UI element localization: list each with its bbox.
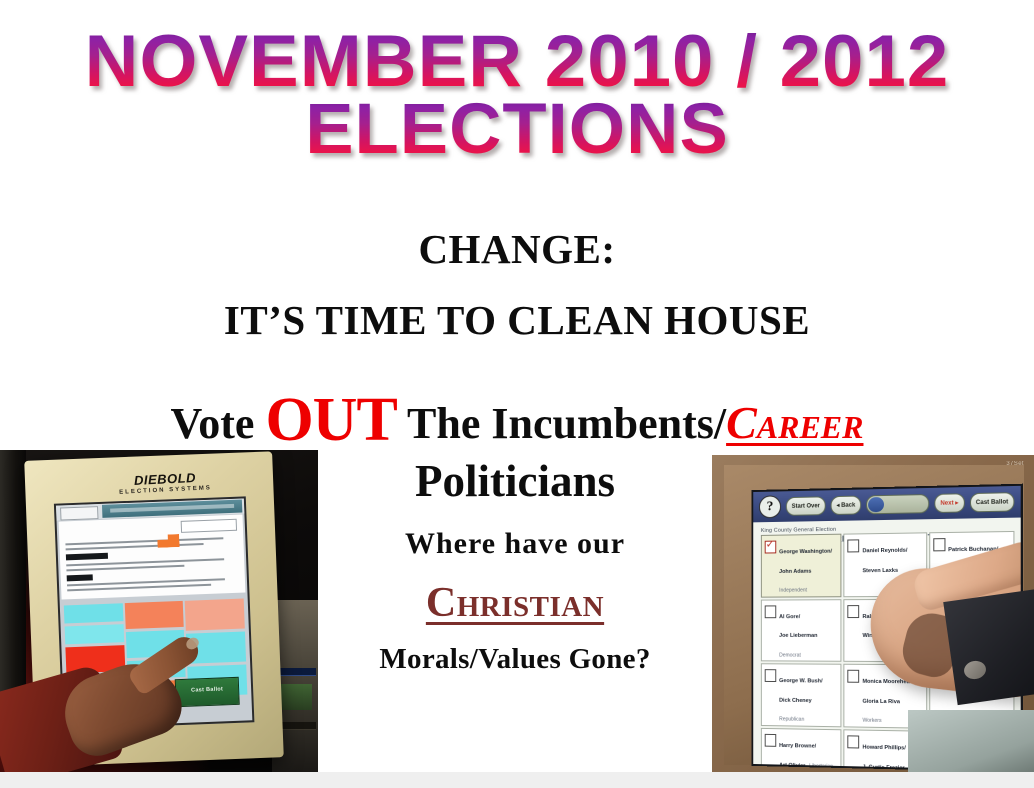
bottom-strip [0, 772, 1034, 788]
candidate-name-secondary: Gloria La Riva [862, 699, 899, 705]
back-button[interactable]: ◂ Back [831, 496, 862, 516]
candidate-name-secondary: Joe Lieberman [779, 633, 817, 639]
candidate-checkbox[interactable] [848, 670, 860, 683]
photo-right-shirt-cuff [943, 589, 1034, 705]
headline-line-2: ELECTIONS [0, 97, 1034, 162]
candidate-checkbox[interactable] [848, 735, 860, 748]
ballot-choice[interactable] [185, 599, 245, 631]
vote-middle: The Incumbents/ [397, 399, 726, 448]
orange-marker-icon [157, 534, 179, 548]
candidate-names: George Washington/ John Adams Independen… [779, 539, 838, 597]
screen-search-input[interactable] [181, 519, 237, 533]
candidate-names: Al Gore/ Joe Lieberman Democrat [779, 604, 838, 662]
start-over-button[interactable]: Start Over [786, 496, 826, 516]
photo-right-counter-label: 37Set [1006, 461, 1024, 467]
ballot-toolbar: ? Start Over ◂ Back Next ▸ Cast Ballot [753, 486, 1020, 523]
text-heading [67, 574, 93, 581]
next-button[interactable]: Next ▸ [934, 493, 964, 513]
morals-values-label: Morals/Values Gone? [318, 643, 712, 676]
candidate-option[interactable]: Al Gore/ Joe Lieberman Democrat [761, 599, 842, 662]
candidate-checkbox[interactable] [765, 734, 777, 747]
candidate-name-primary: Al Gore/ [779, 614, 800, 620]
mid-text-column: Politicians Where have our Christian Mor… [318, 455, 712, 676]
candidate-option[interactable]: George Washington/ John Adams Independen… [761, 534, 842, 598]
photo-right-floor [908, 710, 1034, 772]
screen-instructions-panel [59, 515, 246, 600]
candidate-party: Democrat [779, 652, 801, 658]
candidate-name-primary: George W. Bush/ [779, 678, 822, 684]
text-line [66, 558, 224, 566]
candidate-party: Independent [779, 588, 807, 594]
ballot-progress-bar [866, 494, 929, 514]
candidate-name-primary: George Washington/ [779, 549, 832, 556]
headline-line-1: NOVEMBER 2010 / 2012 [0, 28, 1034, 95]
candidate-name-secondary: Dick Cheney [779, 698, 812, 704]
candidate-name-primary: Daniel Reynolds/ [862, 548, 907, 555]
candidate-name-secondary: John Adams [779, 568, 811, 574]
candidate-party: Workers [862, 718, 881, 724]
vote-prefix: Vote [171, 399, 266, 448]
diebold-logo: DIEBOLD ELECTION SYSTEMS [105, 469, 226, 497]
candidate-names: George W. Bush/ Dick Cheney Republican [779, 669, 838, 728]
where-have-our-label: Where have our [318, 527, 712, 561]
candidate-option[interactable]: Harry Browne/ Art Olivier Libertarian [761, 728, 842, 772]
candidate-party: Republican [779, 717, 804, 723]
candidate-name-primary: Howard Phillips/ [862, 745, 905, 752]
vote-out-emphasis: OUT [265, 386, 396, 454]
clean-house-label: IT’S TIME TO CLEAN HOUSE [0, 296, 1034, 344]
politicians-label: Politicians [318, 455, 712, 507]
cast-ballot-button[interactable]: Cast Ballot [175, 677, 240, 707]
photo-left-rack [0, 450, 26, 700]
cast-ballot-button[interactable]: Cast Ballot [970, 492, 1015, 512]
candidate-column: George Washington/ John Adams Independen… [761, 534, 842, 772]
help-icon[interactable]: ? [759, 495, 781, 518]
progress-fill [868, 497, 884, 512]
career-emphasis: Career [726, 397, 863, 448]
candidate-checkbox[interactable] [765, 605, 777, 618]
photo-ballot-touchscreen: 37Set ? Start Over ◂ Back Next ▸ Cast Ba… [712, 455, 1034, 772]
change-label: CHANGE: [0, 225, 1034, 273]
ballot-choice[interactable] [65, 624, 124, 644]
candidate-name-secondary: Steven Laxks [862, 567, 898, 573]
text-line [66, 565, 184, 572]
candidate-checkbox[interactable] [848, 539, 860, 552]
text-heading [66, 553, 108, 561]
vote-out-line: Vote OUT The Incumbents/Career [0, 385, 1034, 456]
christian-emphasis: Christian [318, 579, 712, 627]
headline-block: NOVEMBER 2010 / 2012 ELECTIONS [0, 28, 1034, 162]
candidate-checkbox[interactable] [765, 541, 777, 554]
ballot-choice[interactable] [64, 603, 123, 623]
cast-ballot-label: Cast Ballot [176, 686, 238, 694]
candidate-option[interactable]: George W. Bush/ Dick Cheney Republican [761, 664, 842, 728]
candidate-name-primary: Harry Browne/ [779, 743, 816, 750]
candidate-names: Harry Browne/ Art Olivier Libertarian [779, 733, 838, 772]
candidate-checkbox[interactable] [848, 605, 860, 618]
change-block: CHANGE: IT’S TIME TO CLEAN HOUSE [0, 225, 1034, 344]
photo-diebold-voting-machine: DIEBOLD ELECTION SYSTEMS [0, 450, 318, 772]
ballot-choice[interactable] [124, 601, 184, 629]
candidate-checkbox[interactable] [933, 538, 945, 551]
candidate-checkbox[interactable] [765, 670, 777, 683]
screen-tab[interactable] [60, 506, 98, 520]
slide-canvas: NOVEMBER 2010 / 2012 ELECTIONS CHANGE: I… [0, 0, 1034, 788]
